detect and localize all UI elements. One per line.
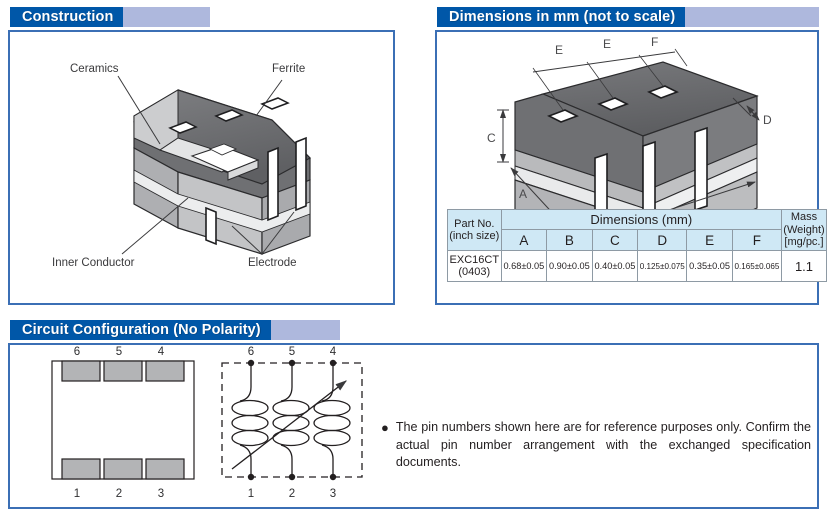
cell-dim-f: 0.165±0.065	[732, 251, 781, 282]
bullet-icon: ●	[381, 419, 389, 472]
dim-letter-e2: E	[603, 37, 611, 51]
schematic-pin-6: 6	[248, 346, 254, 358]
pad-2	[104, 459, 142, 479]
schematic-pin-2: 2	[289, 488, 295, 500]
dimensions-banner-tail	[685, 7, 819, 27]
pad-3	[146, 459, 184, 479]
coil-1	[232, 363, 268, 477]
cell-mass: 1.1	[781, 251, 826, 282]
dim-letter-a: A	[519, 187, 527, 201]
header-part-no-line1: Part No.	[448, 218, 501, 231]
coil-3	[314, 363, 350, 477]
footprint-view: 6 5 4 1 2 3	[52, 346, 194, 500]
header-dim-d: D	[638, 230, 687, 251]
construction-title: Construction	[22, 9, 113, 25]
schematic-pin-5: 5	[289, 346, 295, 358]
footprint-pin-5: 5	[116, 346, 122, 358]
dim-letter-f: F	[651, 35, 658, 49]
cell-dim-c: 0.40±0.05	[592, 251, 638, 282]
circuit-note: ● The pin numbers shown here are for ref…	[381, 419, 811, 472]
pad-1	[62, 459, 100, 479]
header-mass-line1: Mass	[782, 211, 826, 224]
header-part-no: Part No. (inch size)	[448, 210, 502, 251]
dimensions-table: Part No. (inch size) Dimensions (mm) Mas…	[447, 209, 827, 282]
cell-part-no: EXC16CT (0403)	[448, 251, 502, 282]
dimensions-banner: Dimensions in mm (not to scale)	[437, 7, 819, 27]
schematic-pin-4: 4	[330, 346, 337, 358]
pad-5	[104, 361, 142, 381]
table-header-row-1: Part No. (inch size) Dimensions (mm) Mas…	[448, 210, 827, 230]
cell-dim-a: 0.68±0.05	[501, 251, 547, 282]
cell-dim-b: 0.90±0.05	[547, 251, 593, 282]
cell-part-no-line1: EXC16CT	[448, 254, 501, 267]
construction-banner-bar: Construction	[10, 7, 123, 27]
footprint-pin-1: 1	[74, 488, 80, 500]
pad-4	[146, 361, 184, 381]
header-dimensions-group: Dimensions (mm)	[501, 210, 781, 230]
circuit-title: Circuit Configuration (No Polarity)	[22, 322, 261, 338]
footprint-pin-3: 3	[158, 488, 164, 500]
table-header-row-2: A B C D E F	[448, 230, 827, 251]
footprint-pin-6: 6	[74, 346, 80, 358]
construction-banner-tail	[123, 7, 210, 27]
schematic-view: 6 5 4 1 2 3	[222, 346, 362, 500]
header-mass-line3: [mg/pc.]	[782, 236, 826, 249]
header-dim-e: E	[687, 230, 733, 251]
circuit-note-text: The pin numbers shown here are for refer…	[396, 419, 811, 472]
coil-2	[273, 363, 309, 477]
pad-6	[62, 361, 100, 381]
schematic-pin-3: 3	[330, 488, 336, 500]
header-dim-f: F	[732, 230, 781, 251]
circuit-banner-tail	[271, 320, 340, 340]
dim-letter-d: D	[763, 113, 772, 127]
header-mass-line2: (Weight)	[782, 224, 826, 237]
table-row: EXC16CT (0403) 0.68±0.05 0.90±0.05 0.40±…	[448, 251, 827, 282]
dimensions-title: Dimensions in mm (not to scale)	[449, 9, 675, 25]
header-part-no-line2: (inch size)	[448, 230, 501, 243]
footprint-pin-4: 4	[158, 346, 165, 358]
dim-letter-c: C	[487, 131, 496, 145]
circuit-banner: Circuit Configuration (No Polarity)	[10, 320, 340, 340]
cell-dim-e: 0.35±0.05	[687, 251, 733, 282]
circuit-banner-bar: Circuit Configuration (No Polarity)	[10, 320, 271, 340]
header-mass: Mass (Weight) [mg/pc.]	[781, 210, 826, 251]
label-ceramics: Ceramics	[70, 63, 119, 75]
label-ferrite: Ferrite	[272, 63, 305, 75]
dim-letter-e1: E	[555, 43, 563, 57]
label-inner-conductor: Inner Conductor	[52, 257, 135, 269]
construction-diagram: Ceramics Ferrite Inner Conductor Electro…	[10, 32, 393, 303]
header-dim-a: A	[501, 230, 547, 251]
cutaway-face	[134, 90, 178, 150]
footprint-pin-2: 2	[116, 488, 122, 500]
label-electrode: Electrode	[248, 257, 297, 269]
construction-banner: Construction	[10, 7, 210, 27]
cell-part-no-line2: (0403)	[448, 266, 501, 279]
cell-dim-d: 0.125±0.075	[638, 251, 687, 282]
header-dim-c: C	[592, 230, 638, 251]
header-dim-b: B	[547, 230, 593, 251]
schematic-pin-1: 1	[248, 488, 254, 500]
construction-panel: Ceramics Ferrite Inner Conductor Electro…	[8, 30, 395, 305]
dimensions-banner-bar: Dimensions in mm (not to scale)	[437, 7, 685, 27]
